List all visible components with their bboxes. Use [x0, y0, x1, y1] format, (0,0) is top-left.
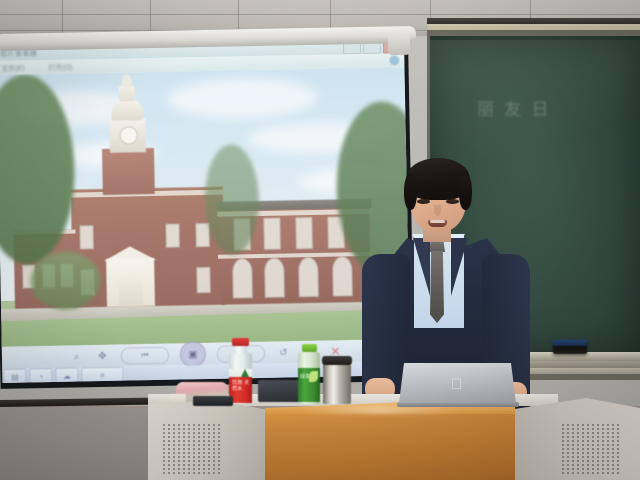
projection-screen: 图片查看器 文件(F) 打开(O)	[0, 39, 410, 383]
laptop-lid: 	[399, 363, 516, 403]
teeth	[430, 220, 445, 223]
hair-sideburn-left	[404, 174, 417, 210]
tea-label-text: 绿茶	[300, 374, 310, 380]
apple-logo-icon: 	[449, 377, 464, 393]
tea-bottle-cap	[302, 344, 317, 352]
play-slideshow-icon[interactable]: ▣	[180, 341, 206, 367]
chalkboard-eraser[interactable]	[553, 340, 587, 354]
rotate-left-icon[interactable]: ↺	[276, 345, 291, 360]
thermos-tumbler[interactable]	[322, 356, 352, 404]
bottle-cap	[232, 338, 249, 346]
bottle-neck	[234, 346, 247, 354]
leaf-icon	[309, 371, 318, 382]
menu-open[interactable]: 打开(O)	[48, 63, 72, 73]
speaker-grille-left	[163, 424, 221, 474]
hair-sideburn-right	[459, 174, 472, 210]
bottle-label-text: 饮用 天然水	[232, 380, 253, 392]
speaker-grille-right	[562, 424, 620, 474]
smartphone[interactable]	[193, 396, 233, 406]
photo-viewer-window[interactable]: 图片查看器 文件(F) 打开(O)	[0, 39, 410, 383]
nose	[434, 205, 441, 216]
classroom-scene: 丽 友 日 图片查看器 文件(F) 打开(O)	[0, 0, 640, 480]
taskbar-item-browser[interactable]: ◔	[29, 368, 52, 383]
thermos-lid	[322, 356, 352, 365]
menu-file[interactable]: 文件(F)	[1, 63, 24, 73]
jacket-lapel-left	[404, 238, 430, 296]
necktie	[430, 251, 444, 323]
taskbar-item-cloud[interactable]: ☁	[55, 367, 78, 382]
taskbar-item-folder[interactable]: ▤	[3, 368, 26, 382]
photo-entrance-door	[118, 276, 143, 306]
photo-cupola-cap	[122, 74, 132, 86]
eraser[interactable]	[170, 394, 186, 403]
chalk-writing: 丽 友 日	[477, 95, 552, 120]
water-bottle[interactable]: 饮用 天然水	[228, 338, 253, 404]
projection-screen-roller-cap	[388, 30, 410, 55]
photo-clock-tower-base	[102, 148, 155, 195]
fit-to-window-icon[interactable]: ✥	[95, 348, 110, 363]
lectern-highlight	[300, 406, 460, 414]
macbook-laptop[interactable]: 	[399, 363, 516, 405]
previous-icon[interactable]: ⏮	[121, 346, 169, 364]
photo-lantern	[119, 85, 135, 101]
green-tea-bottle[interactable]: 绿茶	[297, 344, 321, 404]
thermos-body	[323, 364, 351, 404]
photo-canvas	[0, 67, 410, 347]
jacket-lapel-right	[451, 238, 477, 296]
zoom-icon[interactable]: ⌕	[69, 349, 84, 364]
bottle-logo-icon	[241, 369, 249, 377]
taskbar-item-document[interactable]: ≡	[81, 367, 123, 383]
